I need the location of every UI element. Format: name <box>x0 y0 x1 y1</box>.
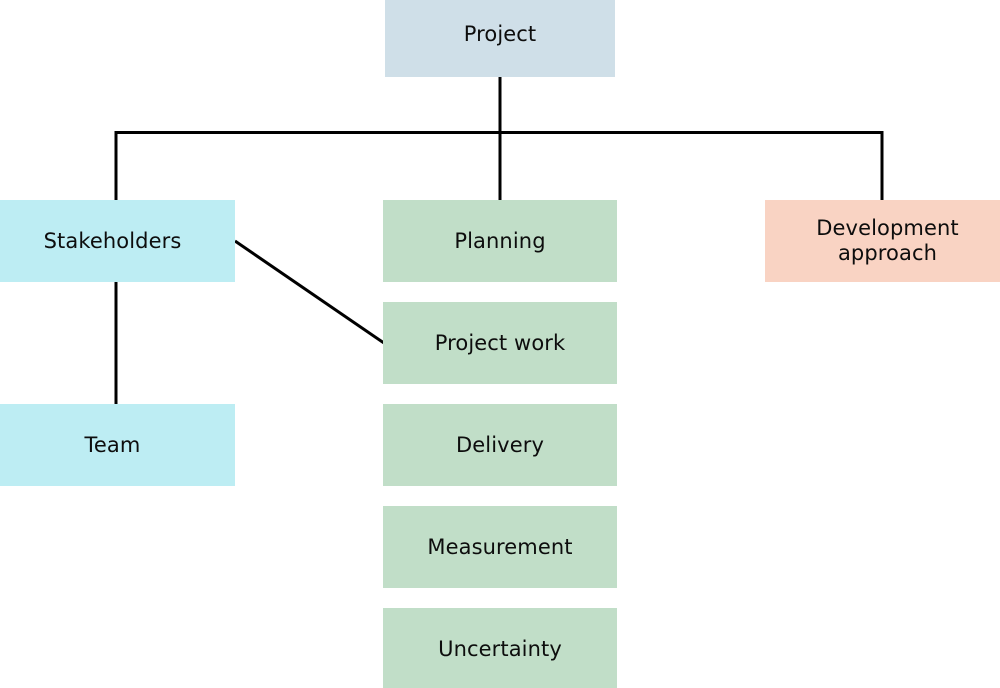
node-stakeholders-label: Stakeholders <box>44 229 182 254</box>
node-team-label: Team <box>85 433 141 458</box>
node-delivery-label: Delivery <box>456 433 544 458</box>
node-delivery[interactable]: Delivery <box>383 404 617 486</box>
node-project[interactable]: Project <box>385 0 615 77</box>
node-uncertainty[interactable]: Uncertainty <box>383 608 617 688</box>
node-measurement-label: Measurement <box>427 535 572 560</box>
node-project-work-label: Project work <box>435 331 566 356</box>
node-uncertainty-label: Uncertainty <box>438 637 562 662</box>
edge-stakeholders-to-project-work <box>235 241 384 343</box>
node-planning-label: Planning <box>454 229 545 254</box>
node-team[interactable]: Team <box>0 404 235 486</box>
node-development-approach-label: Development approach <box>816 216 958 266</box>
diagram-canvas: Project Stakeholders Team Planning Proje… <box>0 0 1000 688</box>
node-planning[interactable]: Planning <box>383 200 617 282</box>
node-project-work[interactable]: Project work <box>383 302 617 384</box>
node-project-label: Project <box>464 22 537 47</box>
node-development-approach[interactable]: Development approach <box>765 200 1000 282</box>
node-stakeholders[interactable]: Stakeholders <box>0 200 235 282</box>
node-measurement[interactable]: Measurement <box>383 506 617 588</box>
